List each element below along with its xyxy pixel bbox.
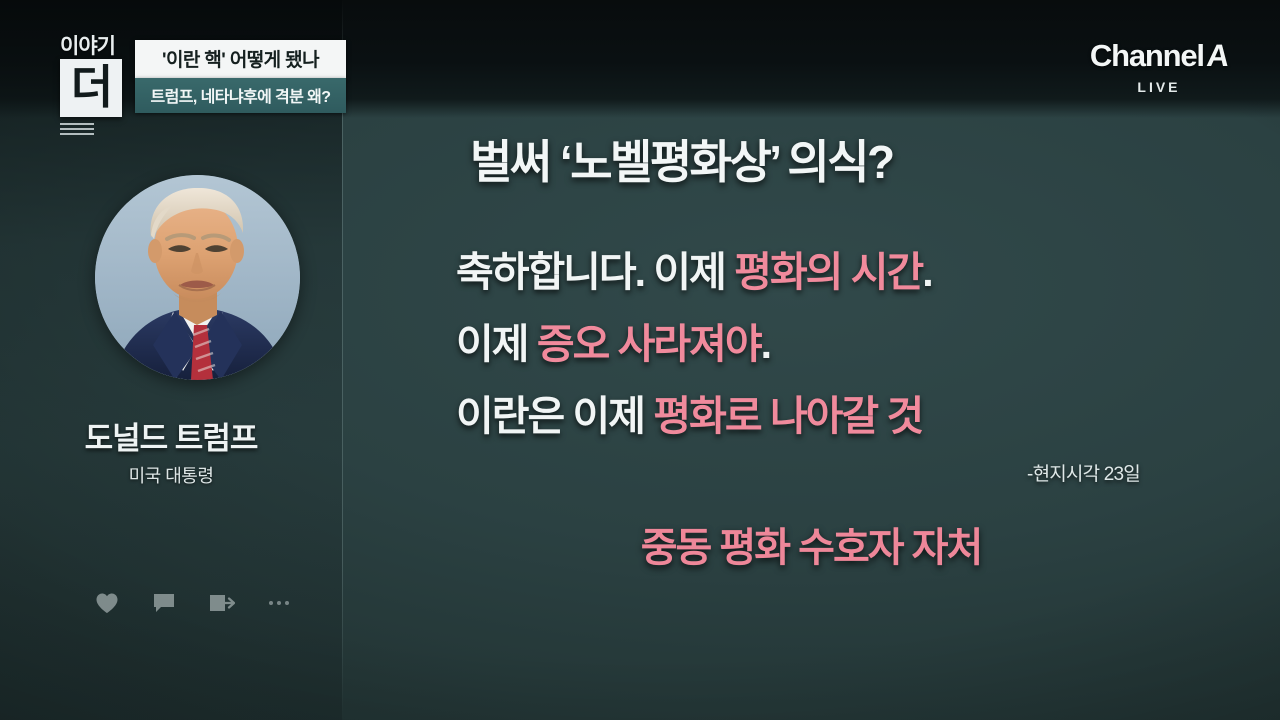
channel-a-mark: A <box>1205 40 1229 71</box>
quote-highlight: 증오 사라져야 <box>537 321 761 367</box>
avatar <box>95 175 300 380</box>
quote-attribution: -현지시각 23일 <box>1027 459 1140 486</box>
quote-line: 축하합니다. 이제 평화의 시간. <box>456 236 932 308</box>
comment-icon[interactable] <box>153 593 175 613</box>
live-badge: LIVE <box>1090 79 1228 95</box>
quote-line: 이란은 이제 평화로 나아갈 것 <box>456 380 932 452</box>
quote-plain-before: 이제 <box>456 321 537 367</box>
quote-highlight: 평화의 시간 <box>734 249 922 295</box>
program-logo-line2: 더 <box>60 59 122 117</box>
speaker-role: 미국 대통령 <box>0 462 342 488</box>
ellipsis-icon[interactable] <box>269 601 289 605</box>
quote-plain-before: 축하합니다. 이제 <box>456 249 734 295</box>
quote-highlight: 평화로 나아갈 것 <box>653 393 922 439</box>
channel-logo-name: ChannelA <box>1090 40 1228 71</box>
sub-headline: 중동 평화 수호자 자처 <box>0 515 1280 573</box>
banner-secondary: 트럼프, 네타냐후에 격분 왜? <box>135 78 346 113</box>
program-logo: 이야기 더 <box>60 36 138 138</box>
program-logo-line1: 이야기 <box>60 36 138 57</box>
quote-plain-after: . <box>922 249 931 295</box>
quote-block: 축하합니다. 이제 평화의 시간. 이제 증오 사라져야. 이란은 이제 평화로… <box>456 236 932 452</box>
speaker-name: 도널드 트럼프 <box>0 413 342 458</box>
headline-banner-group: '이란 핵' 어떻게 됐나 트럼프, 네타냐후에 격분 왜? <box>135 40 346 113</box>
quote-line: 이제 증오 사라져야. <box>456 308 932 380</box>
channel-logo: ChannelA LIVE <box>1090 40 1228 95</box>
quote-plain-after: . <box>761 321 770 367</box>
program-logo-bars <box>60 123 94 135</box>
banner-primary: '이란 핵' 어떻게 됐나 <box>135 40 346 78</box>
social-action-row <box>95 592 289 614</box>
page-title: 벌써 ‘노벨평화상’ 의식? <box>470 126 893 192</box>
broadcast-stage: 이야기 더 '이란 핵' 어떻게 됐나 트럼프, 네타냐후에 격분 왜? Cha… <box>0 0 1280 720</box>
portrait-avatar-icon <box>95 175 300 380</box>
share-icon[interactable] <box>209 593 235 613</box>
channel-logo-text: Channel <box>1090 38 1204 73</box>
heart-icon[interactable] <box>95 592 119 614</box>
quote-plain-before: 이란은 이제 <box>456 393 653 439</box>
